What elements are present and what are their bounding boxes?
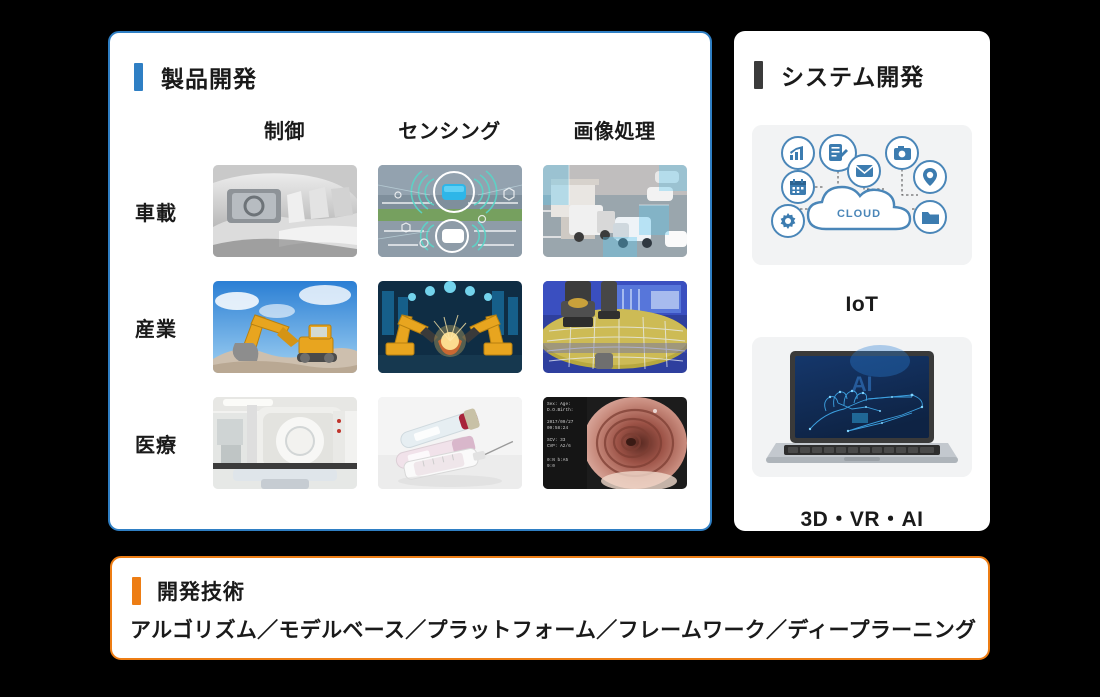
table-row: 医療 <box>110 385 710 501</box>
excavator-heavy-machinery-image[interactable] <box>213 281 357 373</box>
column-header-sensing: センシング <box>367 115 532 144</box>
accent-bar-icon <box>754 61 763 89</box>
row-label-automotive: 車載 <box>110 197 202 226</box>
panel-system-development: システム開発 CLOUD <box>734 31 990 531</box>
car-interior-cockpit-image[interactable] <box>213 165 357 257</box>
semiconductor-wafer-inspection-image[interactable] <box>543 281 687 373</box>
table-row: 産業 <box>110 269 710 385</box>
table-row: 車載 <box>110 153 710 269</box>
svg-text:Sex: Age:: Sex: Age: <box>547 402 571 407</box>
cell-automotive-control[interactable] <box>202 165 367 257</box>
product-panel-header: 製品開発 <box>134 60 257 94</box>
column-header-image-processing: 画像処理 <box>532 115 697 144</box>
svg-text:D.O.Birth:: D.O.Birth: <box>547 408 573 413</box>
row-label-industrial: 産業 <box>110 313 202 342</box>
svg-text:09:58:24: 09:58:24 <box>547 426 568 431</box>
product-matrix: 制御 センシング 画像処理 車載 <box>110 105 710 501</box>
three-d-vr-ai-caption: 3D・VR・AI <box>752 503 972 533</box>
cell-automotive-image-processing[interactable] <box>532 165 697 257</box>
tech-panel-title: 開発技術 <box>157 576 245 606</box>
slide-canvas: 製品開発 制御 センシング 画像処理 車載 <box>0 0 1100 697</box>
blood-test-tubes-syringe-image[interactable] <box>378 397 522 489</box>
svg-text:SCV: 33: SCV: 33 <box>547 438 566 443</box>
ct-scanner-room-image[interactable] <box>213 397 357 489</box>
page-title: 製品開発 <box>161 60 257 94</box>
iot-caption: IoT <box>752 293 972 317</box>
panel-product-development: 製品開発 制御 センシング 画像処理 車載 <box>108 31 712 531</box>
column-header-control: 制御 <box>202 115 367 144</box>
svg-text:2017/09/27: 2017/09/27 <box>547 420 574 425</box>
panel-development-technology: 開発技術 アルゴリズム／モデルベース／プラットフォーム／フレームワーク／ディープ… <box>110 556 990 660</box>
system-panel-title: システム開発 <box>781 58 924 92</box>
welding-robot-arms-image[interactable] <box>378 281 522 373</box>
accent-bar-icon <box>134 63 143 91</box>
endoscope-colon-image[interactable]: Sex: Age: D.O.Birth: 2017/09/27 09:58:24… <box>543 397 687 489</box>
cell-medical-sensing[interactable] <box>367 397 532 489</box>
accent-bar-icon <box>132 577 141 605</box>
iot-cloud-diagram[interactable]: CLOUD <box>752 125 972 265</box>
cell-industrial-control[interactable] <box>202 281 367 373</box>
autonomous-driving-sensing-image[interactable] <box>378 165 522 257</box>
matrix-column-headers: 制御 センシング 画像処理 <box>110 105 710 153</box>
svg-text:CLOUD: CLOUD <box>837 208 881 220</box>
tech-panel-header: 開発技術 <box>132 576 245 606</box>
tech-panel-body: アルゴリズム／モデルベース／プラットフォーム／フレームワーク／ディープラーニング <box>130 614 976 644</box>
laptop-ai-hand-image[interactable]: AI <box>752 337 972 477</box>
system-panel-header: システム開発 <box>754 58 924 92</box>
svg-text:9:0: 9:0 <box>547 464 555 469</box>
svg-text:0:N b:A5: 0:N b:A5 <box>547 458 568 463</box>
cell-industrial-sensing[interactable] <box>367 281 532 373</box>
svg-text:CVP: A2/6: CVP: A2/6 <box>547 444 571 449</box>
row-label-medical: 医療 <box>110 429 202 458</box>
cell-industrial-image-processing[interactable] <box>532 281 697 373</box>
traffic-vehicle-detection-image[interactable] <box>543 165 687 257</box>
cell-medical-control[interactable] <box>202 397 367 489</box>
cell-medical-image-processing[interactable]: Sex: Age: D.O.Birth: 2017/09/27 09:58:24… <box>532 397 697 489</box>
cell-automotive-sensing[interactable] <box>367 165 532 257</box>
